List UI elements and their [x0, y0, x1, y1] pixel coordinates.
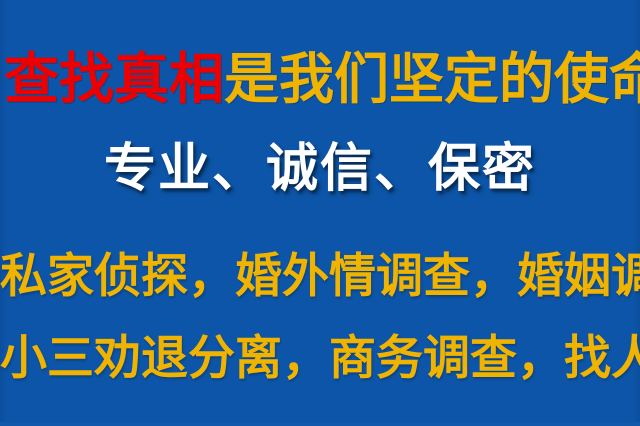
- service-list-line-1: 私家侦探，婚外情调查，婚姻调查，: [0, 248, 640, 306]
- slogan: 专业、诚信、保密: [0, 138, 640, 200]
- banner-text-block: 查找真相是我们坚定的使命 专业、诚信、保密 私家侦探，婚外情调查，婚姻调查， 小…: [0, 0, 640, 426]
- headline-rest: 是我们坚定的使命: [224, 47, 640, 111]
- advertisement-banner: 查找真相是我们坚定的使命 专业、诚信、保密 私家侦探，婚外情调查，婚姻调查， 小…: [0, 0, 640, 426]
- headline-emphasis: 查找真相: [4, 47, 224, 111]
- headline: 查找真相是我们坚定的使命: [0, 47, 640, 111]
- service-list-line-2: 小三劝退分离，商务调查，找人寻人: [0, 330, 640, 388]
